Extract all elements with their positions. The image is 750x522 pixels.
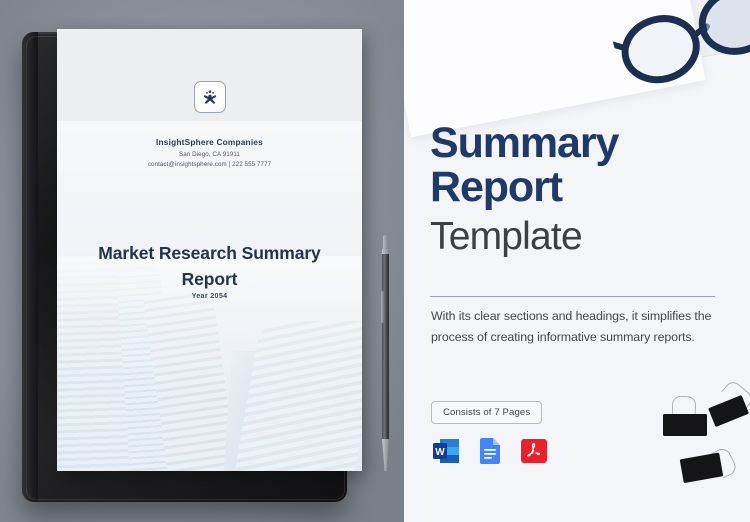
template-preview-image: InsightSphere Companies San Diego, CA 91… bbox=[0, 0, 750, 522]
promo-subtitle: Template bbox=[430, 215, 618, 259]
logo-container bbox=[57, 81, 362, 113]
cover-title: Market Research Summary Report bbox=[85, 241, 334, 293]
file-format-icons: W bbox=[431, 436, 549, 466]
cover-year: Year 2054 bbox=[57, 291, 362, 300]
google-docs-icon[interactable] bbox=[475, 436, 505, 466]
promo-title-line2: Report bbox=[430, 166, 618, 210]
promo-title-line1: Summary bbox=[430, 122, 618, 166]
company-contact: contact@insightsphere.com | 222 555 7777 bbox=[57, 161, 362, 168]
clip-body-3 bbox=[680, 453, 724, 484]
binder-clip-1 bbox=[660, 398, 712, 438]
pages-count-badge: Consists of 7 Pages bbox=[431, 401, 542, 424]
pen-body bbox=[382, 251, 389, 441]
clip-body-1 bbox=[663, 414, 707, 436]
pen-cap bbox=[383, 235, 388, 249]
pen-ring bbox=[382, 249, 389, 254]
ballpoint-pen bbox=[381, 233, 390, 471]
eyeglasses-icon bbox=[601, 0, 750, 115]
people-celebration-logo-icon bbox=[194, 81, 226, 113]
report-cover-page: InsightSphere Companies San Diego, CA 91… bbox=[57, 29, 362, 471]
pen-tip bbox=[382, 439, 389, 471]
section-divider bbox=[430, 296, 715, 297]
company-address: San Diego, CA 91911 bbox=[57, 151, 362, 158]
clip-body-2 bbox=[708, 395, 749, 427]
promo-title-block: Summary Report Template bbox=[430, 122, 618, 258]
company-info-block: InsightSphere Companies San Diego, CA 91… bbox=[57, 137, 362, 168]
binder-clips bbox=[660, 388, 750, 498]
word-letter: W bbox=[435, 447, 445, 458]
binder-clip-3 bbox=[679, 443, 746, 497]
company-name: InsightSphere Companies bbox=[57, 137, 362, 147]
pen-clip bbox=[381, 291, 384, 323]
adobe-pdf-icon[interactable] bbox=[519, 436, 549, 466]
promo-description: With its clear sections and headings, it… bbox=[431, 306, 721, 349]
microsoft-word-icon[interactable]: W bbox=[431, 436, 461, 466]
document-mockup-scene: InsightSphere Companies San Diego, CA 91… bbox=[0, 0, 404, 522]
